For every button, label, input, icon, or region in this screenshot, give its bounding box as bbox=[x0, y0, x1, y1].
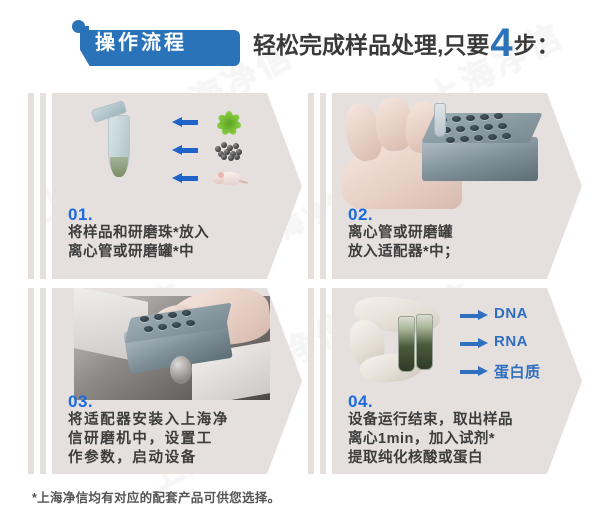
step-text-line: 离心管或研磨罐*中 bbox=[68, 243, 288, 262]
section-banner: 操作流程 bbox=[58, 22, 240, 62]
headline-prefix: 轻松完成样品处理,只要 bbox=[253, 26, 489, 60]
step-number: 03. bbox=[68, 392, 288, 411]
gloved-hand-holding-vials-photo bbox=[350, 292, 468, 392]
hand-installing-adapter-photo bbox=[74, 288, 270, 400]
card-stripe-inner bbox=[40, 288, 46, 474]
card-panel: DNA RNA 蛋白质 04. 设备运行结束，取出样品 离心1min，加入试剂*… bbox=[332, 288, 582, 474]
input-arrow-beads-icon bbox=[172, 145, 198, 156]
card-stripe-outer bbox=[28, 288, 34, 474]
step-text-line: 将适配器安装入上海净 bbox=[68, 411, 288, 430]
step-number: 01. bbox=[68, 205, 288, 224]
grinding-beads-icon bbox=[213, 140, 243, 160]
step-text-line: 放入适配器*中； bbox=[348, 243, 568, 262]
step-number: 02. bbox=[348, 205, 568, 224]
input-arrow-plant-icon bbox=[172, 117, 198, 128]
step-text-line: 离心1min，加入试剂* bbox=[348, 430, 568, 449]
page-header: 操作流程 轻松完成样品处理,只要 4 步： bbox=[0, 0, 600, 88]
step-text-line: 信研磨机中，设置工 bbox=[68, 430, 288, 449]
step-2-text: 02. 离心管或研磨罐 放入适配器*中； bbox=[348, 205, 568, 262]
card-stripe-outer bbox=[28, 93, 34, 279]
output-arrow-protein-icon bbox=[460, 366, 488, 377]
step-4-illustration: DNA RNA 蛋白质 bbox=[332, 288, 582, 404]
step-3-text: 03. 将适配器安装入上海净 信研磨机中，设置工 作参数，启动设备 bbox=[68, 392, 288, 468]
card-stripe-inner bbox=[40, 93, 46, 279]
output-label-dna: DNA bbox=[494, 305, 528, 322]
banner-label: 操作流程 bbox=[58, 22, 218, 58]
card-stripe-outer bbox=[308, 288, 314, 474]
step-number: 04. bbox=[348, 392, 568, 411]
output-arrow-dna-icon bbox=[460, 310, 488, 321]
step-text-line: 离心管或研磨罐 bbox=[348, 224, 568, 243]
output-arrow-rna-icon bbox=[460, 338, 488, 349]
headline-suffix: 步： bbox=[514, 26, 560, 60]
step-card-3: 03. 将适配器安装入上海净 信研磨机中，设置工 作参数，启动设备 bbox=[28, 288, 308, 474]
step-1-illustration bbox=[52, 93, 302, 209]
card-stripe-inner bbox=[320, 288, 326, 474]
page-headline: 轻松完成样品处理,只要 4 步： bbox=[253, 24, 560, 60]
card-stripe-outer bbox=[308, 93, 314, 279]
input-arrow-mouse-icon bbox=[172, 173, 198, 184]
step-card-2: 02. 离心管或研磨罐 放入适配器*中； bbox=[308, 93, 588, 279]
step-text-line: 提取纯化核酸或蛋白 bbox=[348, 449, 568, 468]
step-2-illustration bbox=[332, 93, 582, 209]
centrifuge-tube-icon bbox=[106, 105, 132, 191]
card-panel: 01. 将样品和研磨珠*放入 离心管或研磨罐*中 bbox=[52, 93, 302, 279]
output-label-rna: RNA bbox=[494, 333, 528, 350]
card-panel: 02. 离心管或研磨罐 放入适配器*中； bbox=[332, 93, 582, 279]
hand-loading-adapter-photo bbox=[342, 93, 552, 209]
plant-icon bbox=[215, 109, 243, 135]
step-card-4: DNA RNA 蛋白质 04. 设备运行结束，取出样品 离心1min，加入试剂*… bbox=[308, 288, 588, 474]
step-3-illustration bbox=[52, 288, 302, 404]
step-card-1: 01. 将样品和研磨珠*放入 离心管或研磨罐*中 bbox=[28, 93, 308, 279]
step-text-line: 作参数，启动设备 bbox=[68, 449, 288, 468]
card-stripe-inner bbox=[320, 93, 326, 279]
steps-grid: 01. 将样品和研磨珠*放入 离心管或研磨罐*中 bbox=[0, 88, 600, 476]
footnote-text: *上海净信均有对应的配套产品可供您选择。 bbox=[32, 487, 280, 506]
mouse-icon bbox=[211, 169, 245, 187]
step-4-text: 04. 设备运行结束，取出样品 离心1min，加入试剂* 提取纯化核酸或蛋白 bbox=[348, 392, 568, 468]
headline-step-count: 4 bbox=[490, 27, 512, 59]
step-text-line: 将样品和研磨珠*放入 bbox=[68, 224, 288, 243]
step-1-text: 01. 将样品和研磨珠*放入 离心管或研磨罐*中 bbox=[68, 205, 288, 262]
card-panel: 03. 将适配器安装入上海净 信研磨机中，设置工 作参数，启动设备 bbox=[52, 288, 302, 474]
step-text-line: 设备运行结束，取出样品 bbox=[348, 411, 568, 430]
output-label-protein: 蛋白质 bbox=[494, 361, 541, 382]
